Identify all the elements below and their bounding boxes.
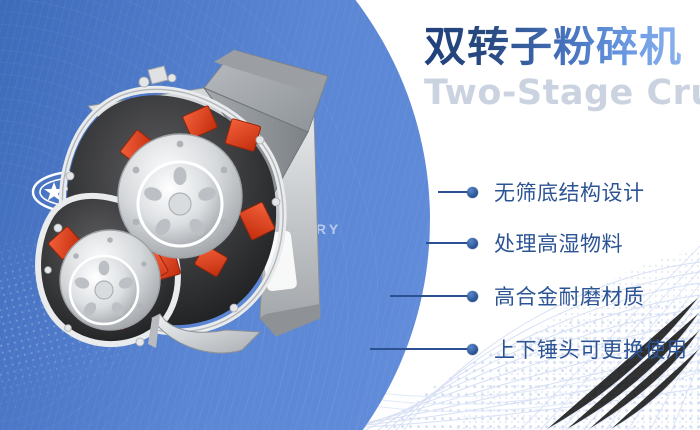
feature-item-4: 上下锤头可更换使用 [370, 334, 688, 364]
feature-connector-line-3 [390, 295, 468, 297]
feature-label-4: 上下锤头可更换使用 [494, 334, 688, 364]
feature-item-1: 无筛底结构设计 [438, 177, 645, 207]
feature-bullet-dot-4 [467, 344, 478, 355]
feature-label-2: 处理高湿物料 [494, 228, 623, 258]
feature-item-2: 处理高湿物料 [426, 228, 623, 258]
feature-bullet-dot-3 [467, 291, 478, 302]
feature-connector-line-4 [370, 348, 468, 350]
product-banner: 红 星机器 HONGXING MACHINERY [0, 0, 700, 430]
feature-connector-line-2 [426, 242, 468, 244]
feature-label-1: 无筛底结构设计 [494, 177, 645, 207]
feature-label-3: 高合金耐磨材质 [494, 281, 645, 311]
feature-list: 无筛底结构设计 处理高湿物料 高合金耐磨材质 上下锤头可更换使用 [0, 0, 700, 430]
feature-item-3: 高合金耐磨材质 [390, 281, 645, 311]
feature-bullet-dot-2 [467, 238, 478, 249]
feature-bullet-dot-1 [467, 187, 478, 198]
feature-connector-line-1 [438, 191, 468, 193]
